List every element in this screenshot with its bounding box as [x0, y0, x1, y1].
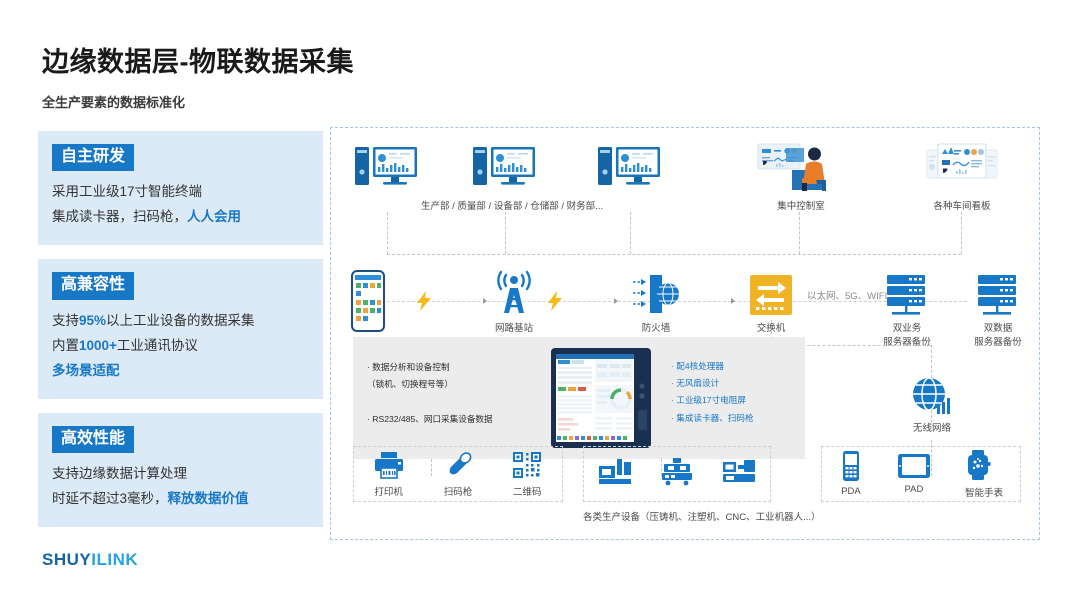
connector-board-down: [961, 212, 962, 254]
device-qrcode-label: 二维码: [512, 484, 542, 498]
data-server-line-1: 双数据: [965, 322, 1031, 336]
connector-desktop2-down: [505, 212, 506, 254]
wireless-network-label: 无线网络: [901, 422, 963, 436]
spec-left-2: [367, 393, 493, 410]
connector-desktop3-down: [630, 212, 631, 254]
spec-list-right: · 配4核处理器 · 无风扇设计 · 工业级17寸电阻屏 · 集成读卡器、扫码枪: [671, 358, 754, 427]
tablet-icon: [897, 453, 931, 479]
feature-card-independent-rd: 自主研发 采用工业级17寸智能终端 集成读卡器，扫码枪，人人会用: [38, 131, 323, 245]
workshop-board-label: 各种车间看板: [931, 200, 993, 214]
spec-left-0: · 数据分析和设备控制: [367, 359, 493, 376]
architecture-diagram: 生产部 / 质量部 / 设备部 / 仓储部 / 财务部... 集中控制: [330, 127, 1040, 540]
logo-part-1: SHUY: [42, 550, 91, 569]
device-cnc: [598, 458, 632, 491]
text-b: 以上工业设备的数据采集: [106, 313, 255, 328]
device-smartwatch-label: 智能手表: [965, 485, 1003, 499]
device-scanner: 扫码枪: [443, 451, 473, 498]
cnc-machine-icon: [598, 458, 632, 486]
dashboard-board-icon: [926, 142, 998, 188]
data-server-line-2: 服务器备份: [965, 336, 1031, 350]
node-data-server: [975, 274, 1019, 318]
desktops-caption: 生产部 / 质量部 / 设备部 / 仓储部 / 财务部...: [421, 200, 603, 214]
qrcode-icon: [512, 451, 542, 479]
lightning-bolt-icon: [546, 291, 564, 311]
smartwatch-icon: [965, 450, 991, 480]
card-line-2: 集成读卡器，扫码枪，人人会用: [52, 205, 309, 230]
data-server-label: 双数据 服务器备份: [965, 322, 1031, 350]
connector-controlroom-down: [799, 212, 800, 254]
desktop-computer-icon: [471, 144, 539, 190]
card-line-2: 内置1000+工业通讯协议: [52, 334, 309, 359]
device-pad: PAD: [897, 453, 931, 495]
desktop-computer-icon: [596, 144, 664, 190]
pda-icon: [839, 451, 863, 481]
node-base-station: [491, 271, 537, 315]
desktop-computer-icon: [353, 144, 421, 190]
spec-right-2: · 工业级17寸电阻屏: [671, 392, 754, 409]
barcode-scanner-icon: [443, 451, 473, 479]
connector-desktop1-down: [387, 212, 388, 254]
node-control-room: [756, 140, 838, 192]
metric-1000-plus: 1000+: [79, 338, 117, 353]
device-scanner-label: 扫码枪: [443, 484, 473, 498]
device-smartwatch: 智能手表: [965, 450, 1003, 499]
lightning-bolt-icon: [415, 291, 433, 311]
device-group-mobile: PDA PAD 智能手表: [821, 446, 1021, 502]
card-line-2-accent: 释放数据价值: [168, 491, 249, 506]
card-line-2-accent: 人人会用: [187, 209, 241, 224]
die-casting-machine-icon: [660, 458, 694, 486]
spec-left-1: （锁机、切换程号等）: [367, 376, 493, 393]
flow-arrow-3: [731, 298, 735, 304]
connector-top-bus: [387, 254, 961, 255]
card-line-2-plain: 时延不超过3毫秒，: [52, 491, 168, 506]
spec-left-3: · RS232/485、网口采集设备数据: [367, 411, 493, 428]
server-rack-icon: [884, 274, 928, 318]
device-printer: 打印机: [374, 451, 404, 498]
production-group-caption: 各类生产设备（压铸机、注塑机、CNC、工业机器人...）: [583, 509, 771, 523]
spec-right-3: · 集成读卡器、扫码枪: [671, 410, 754, 427]
control-room-label: 集中控制室: [771, 200, 831, 214]
device-pda-label: PDA: [839, 486, 863, 497]
industrial-terminal: [551, 348, 651, 448]
device-pad-label: PAD: [897, 484, 931, 495]
node-desktop-1: [353, 144, 421, 190]
flow-arrow-2: [614, 298, 618, 304]
wireless-globe-icon: [911, 376, 953, 416]
node-switch: [749, 274, 793, 316]
node-mobile-phone: [351, 270, 385, 332]
text-a: 内置: [52, 338, 79, 353]
device-pda: PDA: [839, 451, 863, 497]
node-desktop-2: [471, 144, 539, 190]
company-logo: SHUYILINK: [42, 550, 138, 570]
firewall-icon: [631, 273, 681, 315]
node-workshop-board: [926, 142, 998, 188]
page-title: 边缘数据层-物联数据采集: [42, 40, 354, 79]
spec-right-1: · 无风扇设计: [671, 375, 754, 392]
device-group-peripherals: 打印机 扫码枪 二维码: [353, 446, 563, 502]
control-room-icon: [756, 140, 838, 192]
node-wireless-network: [911, 376, 953, 416]
terminal-spec-panel: · 数据分析和设备控制 （锁机、切换程号等） · RS232/485、网口采集设…: [353, 337, 805, 459]
feature-card-performance: 高效性能 支持边缘数据计算处理 时延不超过3毫秒，释放数据价值: [38, 413, 323, 527]
device-printer-label: 打印机: [374, 484, 404, 498]
node-biz-server: [884, 274, 928, 318]
card-line-1: 采用工业级17寸智能终端: [52, 180, 309, 205]
logo-part-2: ILINK: [91, 550, 138, 569]
wireless-bolt-icon-2: [546, 291, 564, 311]
link-types-label: 以太网、5G、WIFI: [807, 290, 887, 304]
wireless-bolt-icon-1: [415, 291, 433, 311]
metric-95-percent: 95%: [79, 313, 106, 328]
card-line-1: 支持边缘数据计算处理: [52, 462, 309, 487]
page-subtitle: 全生产要素的数据标准化: [42, 92, 185, 111]
card-line-2: 时延不超过3毫秒，释放数据价值: [52, 487, 309, 512]
card-badge-independent-rd: 自主研发: [52, 144, 134, 171]
device-die-casting: [660, 458, 694, 491]
card-badge-performance: 高效性能: [52, 426, 134, 453]
card-line-3-accent: 多场景适配: [52, 359, 309, 384]
device-injection: [722, 458, 756, 491]
device-group-production: [583, 446, 771, 502]
feature-card-compatibility: 高兼容性 支持95%以上工业设备的数据采集 内置1000+工业通讯协议 多场景适…: [38, 259, 323, 398]
smartphone-icon: [351, 270, 385, 332]
text-a: 支持: [52, 313, 79, 328]
card-badge-compatibility: 高兼容性: [52, 272, 134, 299]
card-line-1: 支持95%以上工业设备的数据采集: [52, 309, 309, 334]
flow-arrow-1: [483, 298, 487, 304]
node-desktop-3: [596, 144, 664, 190]
feature-card-list: 自主研发 采用工业级17寸智能终端 集成读卡器，扫码枪，人人会用 高兼容性 支持…: [38, 131, 323, 527]
injection-machine-icon: [722, 458, 756, 486]
spec-right-0: · 配4核处理器: [671, 358, 754, 375]
biz-server-line-1: 双业务: [874, 322, 940, 336]
spec-list-left: · 数据分析和设备控制 （锁机、切换程号等） · RS232/485、网口采集设…: [367, 359, 493, 428]
node-firewall: [631, 273, 681, 315]
text-b: 工业通讯协议: [117, 338, 198, 353]
cell-tower-icon: [491, 271, 537, 315]
card-line-2-plain: 集成读卡器，扫码枪，: [52, 209, 187, 224]
network-switch-icon: [749, 274, 793, 316]
printer-icon: [374, 451, 404, 479]
firewall-label: 防火墙: [628, 322, 684, 336]
industrial-terminal-icon: [551, 348, 651, 448]
server-rack-icon: [975, 274, 1019, 318]
base-station-label: 网路基站: [486, 322, 542, 336]
device-qrcode: 二维码: [512, 451, 542, 498]
